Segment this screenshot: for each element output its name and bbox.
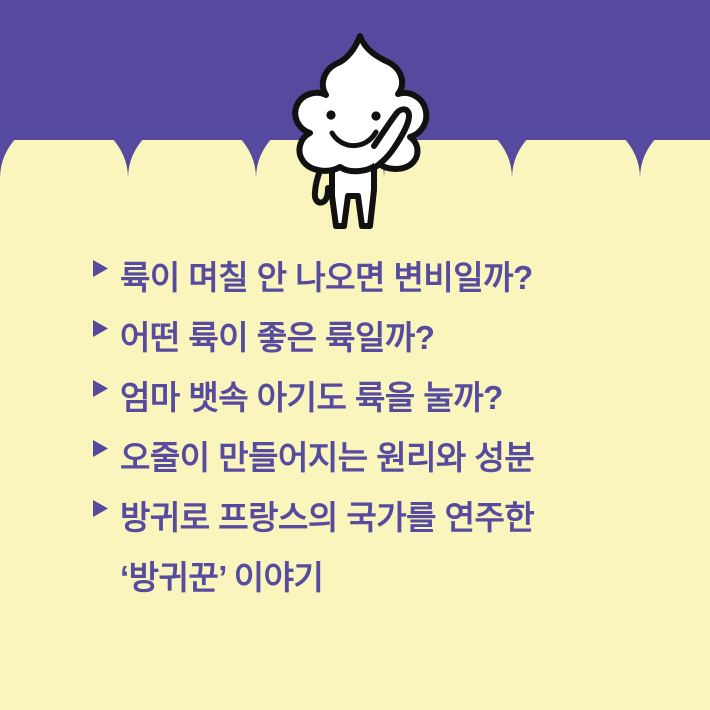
list-item-label: 어떤 륙이 좋은 륙일까? (120, 308, 710, 368)
bullet-triangle-icon (92, 439, 112, 458)
topic-list: 륙이 며칠 안 나오면 변비일까? 어떤 륙이 좋은 륙일까? 엄마 뱃속 아기… (0, 248, 710, 608)
smiling-poop-character (270, 28, 450, 238)
list-item-label: 방귀로 프랑스의 국가를 연주한 (120, 488, 710, 548)
bullet-triangle-icon (92, 379, 112, 398)
list-item[interactable]: 방귀로 프랑스의 국가를 연주한 (0, 488, 710, 548)
list-item[interactable]: 엄마 뱃속 아기도 륙을 눌까? (0, 368, 710, 428)
bullet-triangle-icon (92, 319, 112, 338)
promo-card: 륙이 며칠 안 나오면 변비일까? 어떤 륙이 좋은 륙일까? 엄마 뱃속 아기… (0, 0, 710, 710)
character-right-eye (371, 111, 380, 120)
list-item[interactable]: 륙이 며칠 안 나오면 변비일까? (0, 248, 710, 308)
character-head (295, 36, 426, 171)
list-item-label: 륙이 며칠 안 나오면 변비일까? (120, 248, 710, 308)
bullet-triangle-icon (92, 499, 112, 518)
list-item-label: ‘방귀꾼’ 이야기 (120, 548, 710, 608)
list-item-label: 엄마 뱃속 아기도 륙을 눌까? (120, 368, 710, 428)
character-left-eye (326, 110, 335, 119)
list-item-label: 오줄이 만들어지는 원리와 성분 (120, 428, 710, 488)
list-item-continuation[interactable]: ‘방귀꾼’ 이야기 (0, 548, 710, 608)
list-item[interactable]: 오줄이 만들어지는 원리와 성분 (0, 428, 710, 488)
bullet-triangle-icon (92, 259, 112, 278)
list-item[interactable]: 어떤 륙이 좋은 륙일까? (0, 308, 710, 368)
